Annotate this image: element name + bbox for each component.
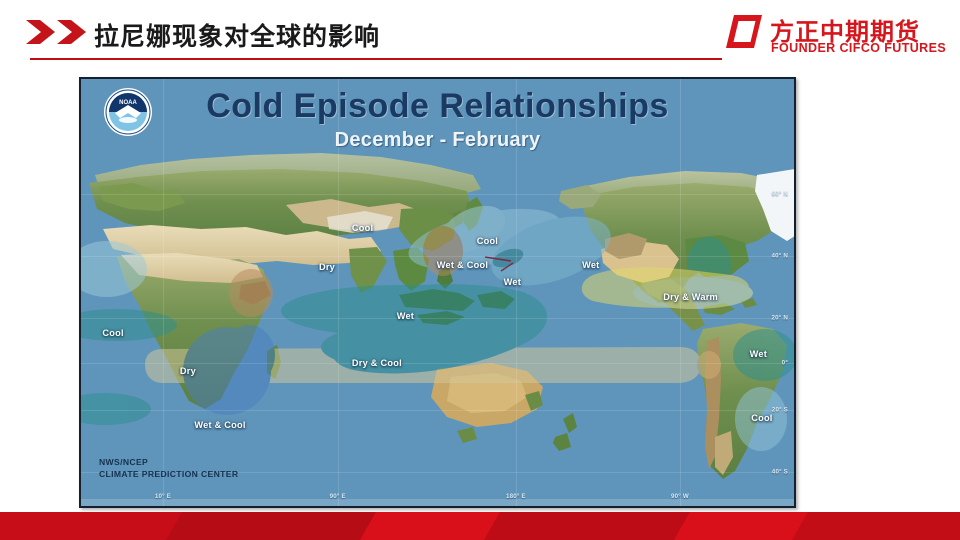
- climate-map-image: NOAA Cold Episode Relationships December…: [79, 77, 796, 508]
- founder-diamond-mark-icon: [726, 15, 762, 48]
- page-title: 拉尼娜现象对全球的影响: [94, 17, 380, 53]
- map-subtitle: December - February: [81, 129, 794, 152]
- brand-name-en: FOUNDER CIFCO FUTURES: [771, 41, 946, 55]
- region-label-cool-alaska: Cool: [477, 236, 498, 246]
- lon-tick: 180° E: [506, 493, 526, 500]
- double-chevron-right-icon: [24, 19, 88, 45]
- lat-tick: 0°: [782, 359, 788, 366]
- lon-tick: 90° W: [671, 493, 689, 500]
- region-label-dry-s-china: Dry: [319, 262, 335, 272]
- credit-line-1: NWS/NCEP: [99, 456, 238, 468]
- lat-tick: 40° S: [772, 468, 788, 475]
- footer-stripes: [0, 512, 960, 540]
- region-label-wet-cool-pacnw: Wet & Cool: [437, 260, 488, 270]
- lon-tick: 90° E: [330, 493, 346, 500]
- region-label-wet-nw-us: Wet: [504, 277, 521, 287]
- region-label-wet-w-pacific: Wet: [397, 311, 414, 321]
- map-title: Cold Episode Relationships: [81, 87, 794, 126]
- region-label-wet-cool-s-africa: Wet & Cool: [194, 420, 245, 430]
- lat-tick: 40° N: [771, 253, 788, 260]
- credit-line-2: CLIMATE PREDICTION CENTER: [99, 468, 238, 480]
- header-divider: [30, 58, 722, 60]
- region-label-dry-warm-s-us: Dry & Warm: [663, 292, 718, 302]
- lat-tick: 20° S: [772, 406, 788, 413]
- footer-banner: [0, 512, 960, 540]
- region-label-wet-ne-brazil: Wet: [750, 349, 767, 359]
- region-label-cool-ne-asia: Cool: [352, 223, 373, 233]
- region-label-cool-s-america: Cool: [751, 413, 772, 423]
- lat-tick: 20° N: [771, 315, 788, 322]
- brand-logo: 方正中期期货 FOUNDER CIFCO FUTURES: [726, 12, 938, 58]
- region-label-dry-e-africa: Dry: [180, 366, 196, 376]
- lat-tick: 60° N: [771, 191, 788, 198]
- region-label-cool-w-africa: Cool: [102, 328, 123, 338]
- region-label-wet-ohio-valley: Wet: [582, 260, 599, 270]
- slide-header: 拉尼娜现象对全球的影响 方正中期期货 FOUNDER CIFCO FUTURES: [0, 0, 960, 58]
- lon-tick: 10° E: [155, 493, 171, 500]
- region-label-dry-cool-pacific: Dry & Cool: [352, 358, 402, 368]
- map-credit: NWS/NCEP CLIMATE PREDICTION CENTER: [99, 456, 238, 480]
- slide-root: 拉尼娜现象对全球的影响 方正中期期货 FOUNDER CIFCO FUTURES: [0, 0, 960, 540]
